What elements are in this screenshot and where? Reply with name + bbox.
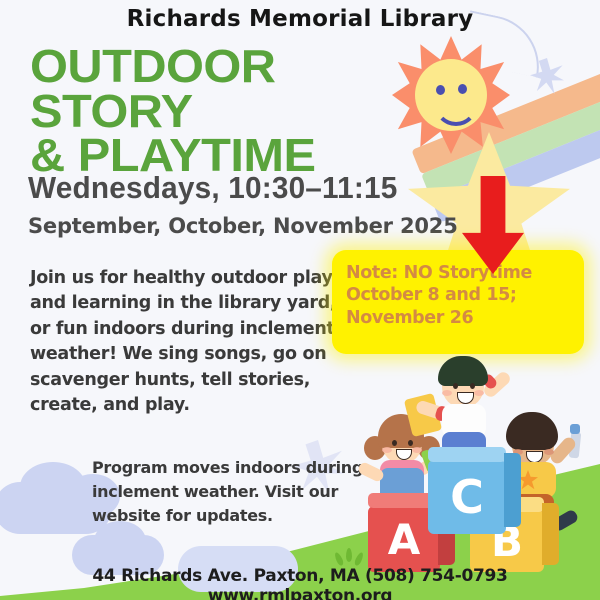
page-title: OUTDOOR STORY & PLAYTIME — [30, 44, 443, 178]
children-playing-illustration: A B C — [372, 360, 598, 572]
note-line-2: October 8 and 15; — [346, 284, 584, 306]
alphabet-block-c: C — [428, 460, 506, 534]
schedule-months: September, October, November 2025 — [28, 214, 458, 238]
title-line-1: OUTDOOR STORY — [30, 44, 443, 133]
block-letter: C — [450, 470, 484, 524]
note-line-3: November 26 — [346, 307, 584, 329]
description-paragraph: Join us for healthy outdoor play and lea… — [30, 266, 340, 418]
sparkle-icon — [530, 58, 564, 94]
grass-icon — [346, 548, 352, 562]
schedule-days-time: Wednesdays, 10:30–11:15 — [28, 170, 397, 206]
weather-notice-text: Program moves indoors during inclement w… — [92, 456, 372, 528]
block-letter: A — [388, 515, 421, 564]
flyer-canvas: Richards Memorial Library OUTDOOR STORY … — [0, 0, 600, 600]
grass-icon — [353, 551, 364, 566]
footer-contact-line: 44 Richards Ave. Paxton, MA (508) 754-07… — [0, 566, 600, 600]
grass-icon — [333, 551, 344, 566]
organization-name: Richards Memorial Library — [0, 6, 600, 32]
down-arrow-icon — [462, 176, 524, 274]
